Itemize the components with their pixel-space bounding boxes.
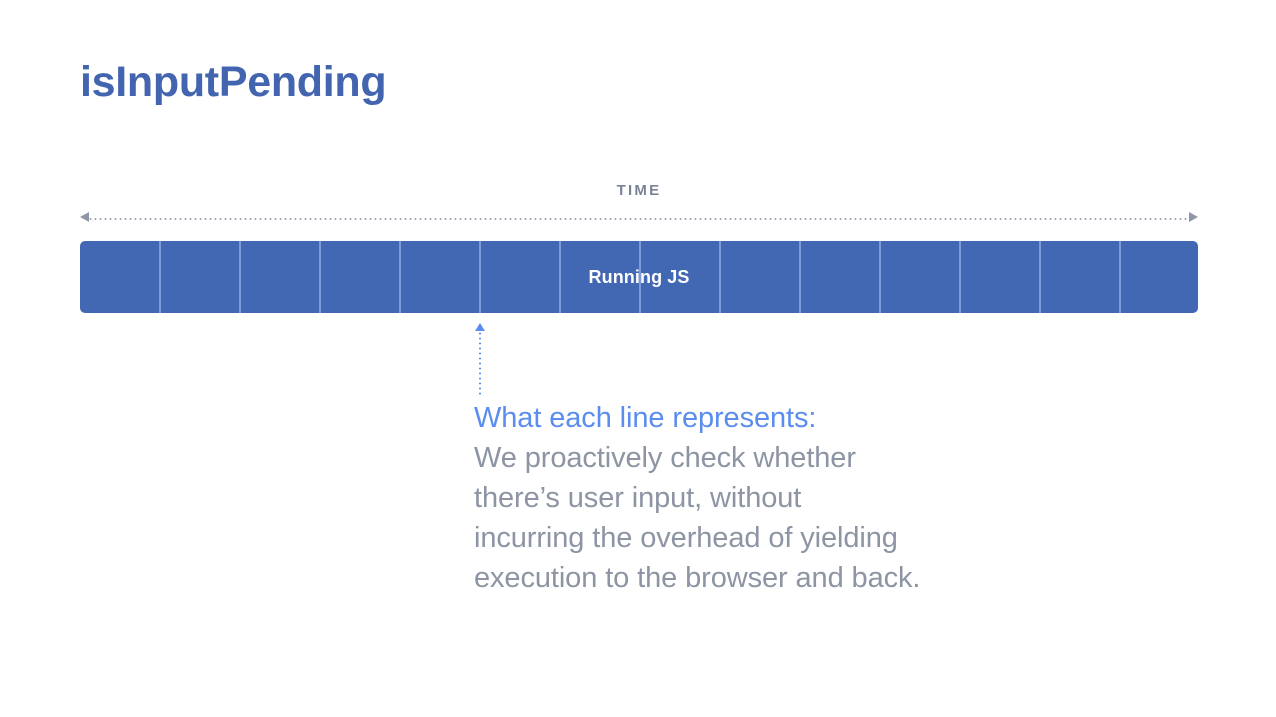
callout-connector xyxy=(474,323,486,395)
timeline-segment-divider xyxy=(799,241,801,313)
arrow-right-icon xyxy=(1189,212,1198,222)
timeline-segment-divider xyxy=(719,241,721,313)
timeline-segment-divider xyxy=(319,241,321,313)
timeline-segment-divider xyxy=(879,241,881,313)
timeline-bar: Running JS xyxy=(80,241,1198,313)
arrow-left-icon xyxy=(80,212,89,222)
callout-text-block: What each line represents: We proactivel… xyxy=(474,398,994,598)
timeline-segment-divider xyxy=(1039,241,1041,313)
timeline-segment-divider xyxy=(479,241,481,313)
timeline-segment-divider xyxy=(399,241,401,313)
callout-body: We proactively check whetherthere’s user… xyxy=(474,438,994,598)
time-axis-label: TIME xyxy=(80,182,1198,199)
page-title: isInputPending xyxy=(80,59,386,106)
timeline-segment-divider xyxy=(159,241,161,313)
timeline-segment-divider xyxy=(639,241,641,313)
timeline-segment-divider xyxy=(559,241,561,313)
callout-body-line: execution to the browser and back. xyxy=(474,558,994,598)
callout-heading: What each line represents: xyxy=(474,398,994,438)
arrow-up-dotted-icon xyxy=(475,323,485,331)
callout-body-line: incurring the overhead of yielding xyxy=(474,518,994,558)
timeline-segment-divider xyxy=(1119,241,1121,313)
connector-dotted-line xyxy=(479,331,481,395)
callout-body-line: there’s user input, without xyxy=(474,478,994,518)
callout-body-line: We proactively check whether xyxy=(474,438,994,478)
time-axis: TIME xyxy=(80,182,1198,224)
timeline-segment-divider xyxy=(959,241,961,313)
timeline-segment-divider xyxy=(239,241,241,313)
time-axis-dotted-line xyxy=(88,218,1190,220)
